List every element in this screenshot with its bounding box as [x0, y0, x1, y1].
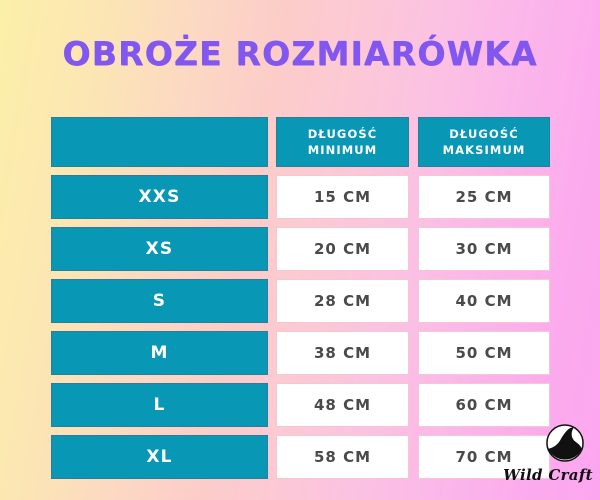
- cell-max-length: 50 CM: [418, 331, 550, 375]
- header-min-line1: DŁUGOŚĆ: [308, 126, 378, 142]
- cell-min-length: 38 CM: [276, 331, 409, 375]
- max-value: 40 CM: [455, 292, 512, 310]
- header-max-line2: MAKSIMUM: [443, 142, 526, 158]
- max-value: 60 CM: [455, 396, 512, 414]
- header-min-text: DŁUGOŚĆ MINIMUM: [308, 126, 378, 158]
- header-min-line2: MINIMUM: [308, 142, 378, 158]
- cell-size: XS: [51, 227, 268, 271]
- min-value: 20 CM: [314, 240, 371, 258]
- cell-min-length: 15 CM: [276, 175, 409, 219]
- cell-min-length: 48 CM: [276, 383, 409, 427]
- size-chart-table: DŁUGOŚĆ MINIMUM DŁUGOŚĆ MAKSIMUM XXS 15 …: [51, 117, 550, 479]
- cell-min-length: 58 CM: [276, 435, 409, 479]
- table-row: XL 58 CM 70 CM: [51, 435, 550, 479]
- page-title: OBROŻE ROZMIARÓWKA: [0, 34, 600, 74]
- size-label: M: [150, 343, 168, 363]
- brand-name: Wild Craft: [502, 466, 594, 484]
- cell-min-length: 20 CM: [276, 227, 409, 271]
- table-row: L 48 CM 60 CM: [51, 383, 550, 427]
- table-row: XXS 15 CM 25 CM: [51, 175, 550, 219]
- cell-max-length: 30 CM: [418, 227, 550, 271]
- header-max-text: DŁUGOŚĆ MAKSIMUM: [443, 126, 526, 158]
- max-value: 25 CM: [455, 188, 512, 206]
- min-value: 58 CM: [314, 448, 371, 466]
- cell-max-length: 40 CM: [418, 279, 550, 323]
- header-cell-size: [51, 117, 268, 167]
- min-value: 15 CM: [314, 188, 371, 206]
- cell-size: XXS: [51, 175, 268, 219]
- cell-size: L: [51, 383, 268, 427]
- cell-size: S: [51, 279, 268, 323]
- size-chart-page: OBROŻE ROZMIARÓWKA DŁUGOŚĆ MINIMUM DŁUGO…: [0, 0, 600, 500]
- max-value: 50 CM: [455, 344, 512, 362]
- table-header-row: DŁUGOŚĆ MINIMUM DŁUGOŚĆ MAKSIMUM: [51, 117, 550, 167]
- size-label: S: [153, 291, 166, 311]
- size-label: XL: [146, 447, 172, 467]
- min-value: 48 CM: [314, 396, 371, 414]
- header-max-line1: DŁUGOŚĆ: [443, 126, 526, 142]
- size-label: L: [153, 395, 165, 415]
- header-cell-min-length: DŁUGOŚĆ MINIMUM: [276, 117, 409, 167]
- table-row: XS 20 CM 30 CM: [51, 227, 550, 271]
- table-row: S 28 CM 40 CM: [51, 279, 550, 323]
- header-cell-max-length: DŁUGOŚĆ MAKSIMUM: [418, 117, 550, 167]
- brand-logo: Wild Craft: [502, 424, 594, 486]
- wolf-howling-circle-icon: [546, 424, 584, 462]
- max-value: 30 CM: [455, 240, 512, 258]
- cell-max-length: 60 CM: [418, 383, 550, 427]
- cell-min-length: 28 CM: [276, 279, 409, 323]
- cell-size: XL: [51, 435, 268, 479]
- min-value: 28 CM: [314, 292, 371, 310]
- cell-max-length: 25 CM: [418, 175, 550, 219]
- table-row: M 38 CM 50 CM: [51, 331, 550, 375]
- size-label: XS: [146, 239, 174, 259]
- min-value: 38 CM: [314, 344, 371, 362]
- cell-size: M: [51, 331, 268, 375]
- size-label: XXS: [138, 187, 180, 207]
